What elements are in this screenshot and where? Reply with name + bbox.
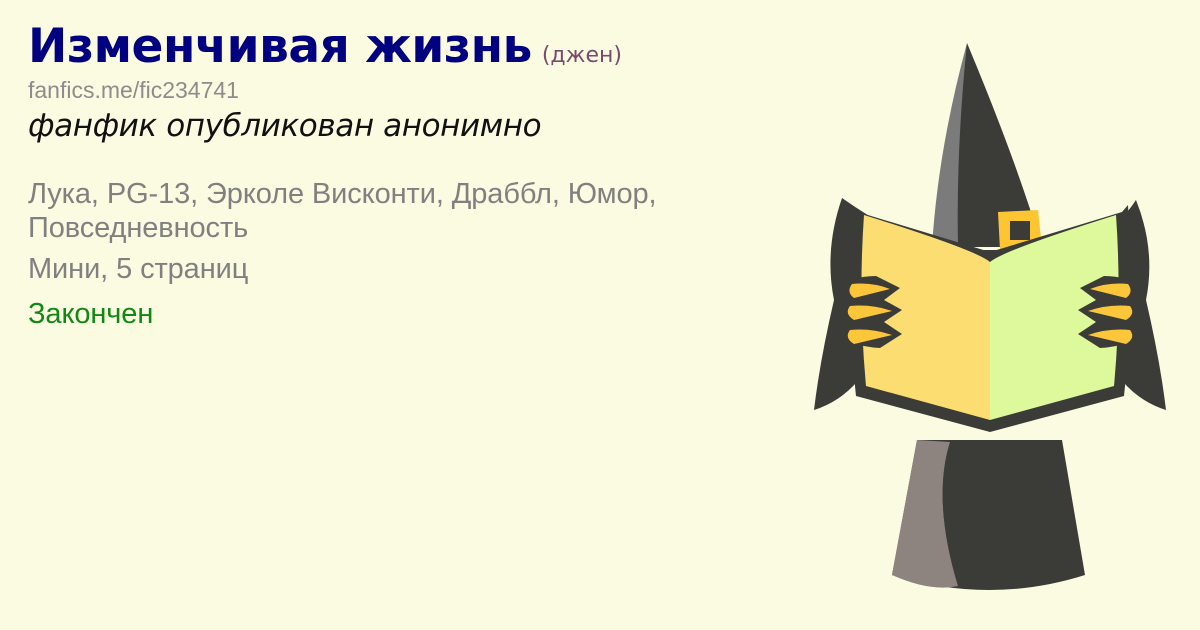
status-badge: Закончен xyxy=(28,297,788,331)
fic-category-label: (джен) xyxy=(542,45,622,67)
fic-tags: Лука, PG-13, Эрколе Висконти, Драббл, Юм… xyxy=(28,177,718,245)
social-share-card: Изменчивая жизнь (джен) fanfics.me/fic23… xyxy=(0,0,1200,630)
fic-title-row: Изменчивая жизнь (джен) xyxy=(28,22,788,71)
fic-author-line: фанфик опубликован анонимно xyxy=(28,108,788,145)
page-title: Изменчивая жизнь xyxy=(28,22,532,71)
fic-info-column: Изменчивая жизнь (джен) fanfics.me/fic23… xyxy=(28,22,788,331)
wizard-reading-book-icon xyxy=(780,0,1200,630)
fic-meta-block: Лука, PG-13, Эрколе Висконти, Драббл, Юм… xyxy=(28,177,788,331)
fic-url[interactable]: fanfics.me/fic234741 xyxy=(28,77,788,103)
fic-size: Мини, 5 страниц xyxy=(28,252,788,286)
wizard-reading-book-illustration xyxy=(780,0,1200,630)
hat-buckle-hole xyxy=(1010,221,1030,240)
